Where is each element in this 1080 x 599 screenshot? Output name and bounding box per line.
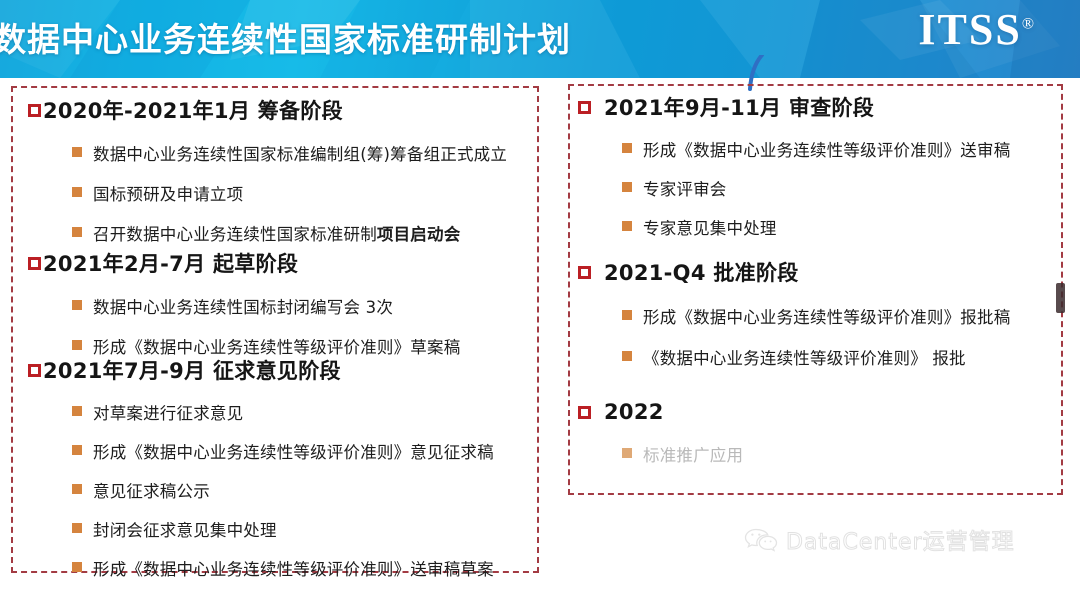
list-item: 专家评审会 [622, 176, 1048, 200]
list-item: 专家意见集中处理 [622, 215, 1048, 239]
list-item-label: 意见征求稿公示 [93, 478, 210, 502]
phase-heading-label: 2021年2月-7月 起草阶段 [43, 248, 298, 278]
square-filled-icon [72, 300, 82, 310]
phase-group-drafting: 2021年2月-7月 起草阶段 数据中心业务连续性国标封闭编写会 3次 形成《数… [28, 248, 528, 358]
list-item: 对草案进行征求意见 [72, 400, 528, 424]
list-item-label: 《数据中心业务连续性等级评价准则》 报批 [643, 345, 966, 369]
square-outline-icon [578, 101, 591, 114]
phase-heading-label: 2020年-2021年1月 筹备阶段 [43, 95, 343, 125]
list-item-label: 标准推广应用 [643, 442, 743, 466]
list-item-label: 召开数据中心业务连续性国家标准研制项目启动会 [93, 221, 460, 245]
header-banner: 数据中心业务连续性国家标准研制计划 ITSS® [0, 0, 1080, 78]
square-outline-icon [578, 266, 591, 279]
list-item: 召开数据中心业务连续性国家标准研制项目启动会 [72, 221, 528, 245]
itss-logo: ITSS® [918, 8, 1034, 52]
phase-item-list: 形成《数据中心业务连续性等级评价准则》报批稿 《数据中心业务连续性等级评价准则》… [578, 304, 1048, 369]
wechat-icon [744, 526, 778, 554]
list-item-text-plain: 召开数据中心业务连续性国家标准研制 [93, 225, 377, 244]
list-item-label: 形成《数据中心业务连续性等级评价准则》意见征求稿 [93, 439, 494, 463]
square-filled-icon [72, 445, 82, 455]
list-item-text-emphasis: 项目启动会 [377, 225, 461, 244]
list-item: 国标预研及申请立项 [72, 181, 528, 205]
square-outline-icon [28, 364, 41, 377]
list-item: 形成《数据中心业务连续性等级评价准则》报批稿 [622, 304, 1048, 328]
square-filled-icon [72, 340, 82, 350]
itss-logo-text: ITSS [918, 5, 1021, 54]
phase-group-approval: 2021-Q4 批准阶段 形成《数据中心业务连续性等级评价准则》报批稿 《数据中… [578, 257, 1048, 369]
scroll-position-marker[interactable] [1056, 283, 1065, 313]
square-filled-icon [622, 143, 632, 153]
list-item-label: 专家意见集中处理 [643, 215, 777, 239]
phase-heading-label: 2021年7月-9月 征求意见阶段 [43, 355, 341, 385]
phase-heading: 2022 [578, 400, 1048, 424]
square-filled-icon [72, 227, 82, 237]
list-item: 《数据中心业务连续性等级评价准则》 报批 [622, 345, 1048, 369]
list-item-label: 数据中心业务连续性国标封闭编写会 3次 [93, 294, 393, 318]
list-item: 形成《数据中心业务连续性等级评价准则》送审稿草案 [72, 556, 528, 580]
phase-item-list: 数据中心业务连续性国标封闭编写会 3次 形成《数据中心业务连续性等级评价准则》草… [28, 294, 528, 358]
list-item: 封闭会征求意见集中处理 [72, 517, 528, 541]
list-item: 数据中心业务连续性国家标准编制组(筹)筹备组正式成立 [72, 141, 528, 165]
phase-heading-label: 2022 [604, 400, 664, 424]
phase-heading: 2021-Q4 批准阶段 [578, 257, 1048, 287]
phase-group-comment-solicitation: 2021年7月-9月 征求意见阶段 对草案进行征求意见 形成《数据中心业务连续性… [28, 355, 528, 580]
phase-group-review: 2021年9月-11月 审查阶段 形成《数据中心业务连续性等级评价准则》送审稿 … [578, 92, 1048, 239]
square-outline-icon [578, 406, 591, 419]
page-title: 数据中心业务连续性国家标准研制计划 [0, 13, 571, 61]
list-item: 数据中心业务连续性国标封闭编写会 3次 [72, 294, 528, 318]
square-filled-icon [622, 310, 632, 320]
list-item: 形成《数据中心业务连续性等级评价准则》送审稿 [622, 137, 1048, 161]
phase-heading-label: 2021-Q4 批准阶段 [604, 257, 799, 287]
phase-group-promotion: 2022 标准推广应用 [578, 400, 1048, 466]
list-item-label: 封闭会征求意见集中处理 [93, 517, 277, 541]
phase-heading: 2020年-2021年1月 筹备阶段 [28, 95, 528, 125]
phase-heading: 2021年2月-7月 起草阶段 [28, 248, 528, 278]
list-item-label: 形成《数据中心业务连续性等级评价准则》报批稿 [643, 304, 1010, 328]
square-filled-icon [72, 406, 82, 416]
list-item-label: 形成《数据中心业务连续性等级评价准则》送审稿草案 [93, 556, 494, 580]
list-item-label: 数据中心业务连续性国家标准编制组(筹)筹备组正式成立 [93, 141, 507, 165]
phase-group-preparation: 2020年-2021年1月 筹备阶段 数据中心业务连续性国家标准编制组(筹)筹备… [28, 95, 528, 245]
square-filled-icon [72, 562, 82, 572]
square-outline-icon [28, 257, 41, 270]
phase-item-list: 标准推广应用 [578, 442, 1048, 466]
phase-item-list: 对草案进行征求意见 形成《数据中心业务连续性等级评价准则》意见征求稿 意见征求稿… [28, 400, 528, 580]
watermark-label: DataCenter运营管理 [786, 524, 1015, 556]
phase-item-list: 数据中心业务连续性国家标准编制组(筹)筹备组正式成立 国标预研及申请立项 召开数… [28, 141, 528, 245]
list-item: 意见征求稿公示 [72, 478, 528, 502]
square-filled-icon [72, 484, 82, 494]
square-filled-icon [72, 147, 82, 157]
registered-mark-icon: ® [1022, 15, 1034, 32]
square-filled-icon [622, 351, 632, 361]
list-item-label: 国标预研及申请立项 [93, 181, 243, 205]
square-outline-icon [28, 104, 41, 117]
list-item: 标准推广应用 [622, 442, 1048, 466]
square-filled-icon [72, 523, 82, 533]
phase-item-list: 形成《数据中心业务连续性等级评价准则》送审稿 专家评审会 专家意见集中处理 [578, 137, 1048, 239]
watermark: DataCenter运营管理 [744, 524, 1015, 556]
square-filled-icon [622, 221, 632, 231]
phase-heading: 2021年9月-11月 审查阶段 [578, 92, 1048, 122]
list-item-label: 形成《数据中心业务连续性等级评价准则》送审稿 [643, 137, 1010, 161]
list-item-label: 专家评审会 [643, 176, 727, 200]
list-item-label: 对草案进行征求意见 [93, 400, 243, 424]
phase-heading-label: 2021年9月-11月 审查阶段 [604, 92, 874, 122]
square-filled-icon [72, 187, 82, 197]
square-filled-icon [622, 182, 632, 192]
square-filled-icon [622, 448, 632, 458]
phase-heading: 2021年7月-9月 征求意见阶段 [28, 355, 528, 385]
list-item: 形成《数据中心业务连续性等级评价准则》意见征求稿 [72, 439, 528, 463]
